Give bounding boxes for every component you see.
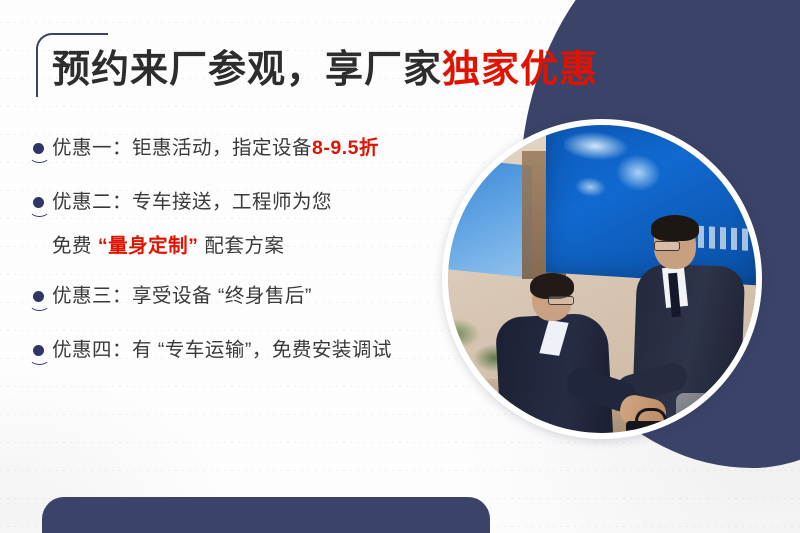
benefits-list: 优惠一：钜惠活动，指定设备8-9.5折 优惠二：专车接送，工程师为您 免费 “量… — [28, 133, 448, 389]
line-plain-before: 优惠三：享受设备 “终身售后” — [52, 285, 312, 307]
list-item-line: 优惠一：钜惠活动，指定设备8-9.5折 — [52, 133, 379, 163]
photo-person-left-glasses — [548, 296, 574, 305]
line-plain-before: 免费 — [52, 235, 98, 257]
line-plain-before: 优惠一：钜惠活动，指定设备 — [52, 137, 312, 159]
bottom-navy-bar — [42, 497, 490, 533]
headline-plain-text: 预约来厂参观，享厂家 — [52, 49, 442, 91]
photo-person-right-hair — [651, 215, 699, 241]
list-item-content: 优惠三：享受设备 “终身售后” — [52, 281, 312, 311]
handshake-photo-inner — [448, 125, 756, 433]
line-accent: “量身定制” — [98, 235, 199, 257]
photo-side-screen — [448, 156, 532, 278]
list-item-line: 优惠二：专车接送，工程师为您 — [52, 187, 332, 217]
eye-dot-bullet-icon — [28, 289, 52, 315]
list-item: 优惠二：专车接送，工程师为您 免费 “量身定制” 配套方案 — [28, 187, 448, 261]
eye-dot-bullet-icon — [28, 195, 52, 221]
list-item-line: 优惠四：有 “专车运输”，免费安装调试 — [52, 335, 392, 365]
list-item-line: 优惠三：享受设备 “终身售后” — [52, 281, 312, 311]
line-plain-after: 配套方案 — [198, 235, 284, 257]
list-item-content: 优惠二：专车接送，工程师为您 免费 “量身定制” 配套方案 — [52, 187, 332, 261]
list-item-content: 优惠一：钜惠活动，指定设备8-9.5折 — [52, 133, 379, 163]
page-title: 预约来厂参观，享厂家独家优惠 — [52, 48, 598, 94]
eye-dot-bullet-icon — [28, 141, 52, 167]
line-accent: 8-9.5折 — [312, 137, 379, 159]
promo-banner: 预约来厂参观，享厂家独家优惠 优惠一：钜惠活动，指定设备8-9.5折 优惠二：专… — [0, 0, 800, 533]
list-item: 优惠三：享受设备 “终身售后” — [28, 281, 448, 315]
photo-person-right-glasses — [654, 241, 680, 251]
list-item: 优惠四：有 “专车运输”，免费安装调试 — [28, 335, 448, 369]
handshake-photo — [442, 119, 762, 439]
list-item-line: 免费 “量身定制” 配套方案 — [52, 231, 332, 261]
headline-accent-text: 独家优惠 — [442, 49, 598, 91]
eye-dot-bullet-icon — [28, 343, 52, 369]
photo-handbag — [626, 421, 670, 433]
photo-world-map-screen — [546, 125, 756, 286]
line-plain-before: 优惠四：有 “专车运输”，免费安装调试 — [52, 339, 392, 361]
line-plain-before: 优惠二：专车接送，工程师为您 — [52, 191, 332, 213]
photo-grey-bag — [676, 393, 724, 433]
list-item: 优惠一：钜惠活动，指定设备8-9.5折 — [28, 133, 448, 167]
list-item-content: 优惠四：有 “专车运输”，免费安装调试 — [52, 335, 392, 365]
